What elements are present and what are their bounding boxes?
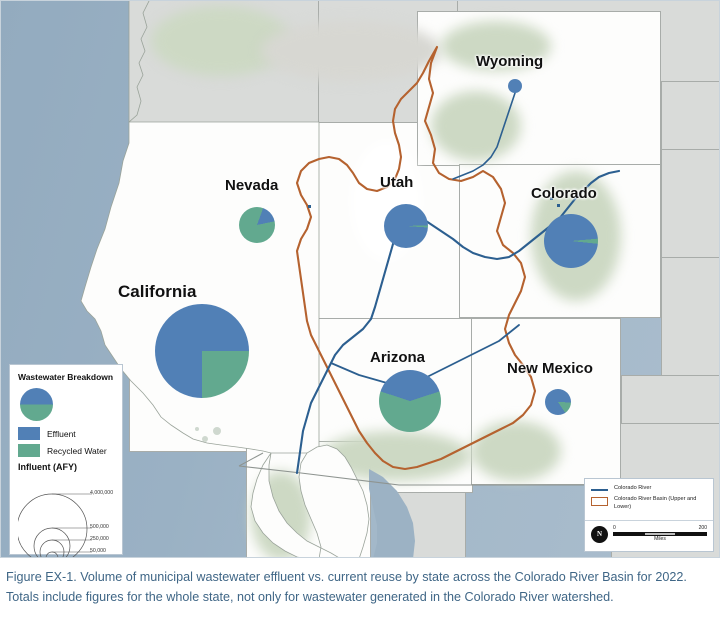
size-circle-4000000	[18, 494, 87, 558]
pie-new-mexico[interactable]	[545, 389, 571, 415]
colorado-river-label: Colorado River	[614, 485, 651, 492]
scale-min-label: 0	[613, 526, 616, 531]
effluent-color-swatch	[18, 427, 40, 440]
recycled-water-color-swatch	[18, 444, 40, 457]
river-line-icon	[591, 489, 608, 491]
terrain-blotch	[431, 91, 521, 161]
pie-wyoming[interactable]	[508, 79, 522, 93]
figure-caption: Figure EX-1. Volume of municipal wastewa…	[0, 564, 720, 607]
colorado-river-basin-label: Colorado River Basin (Upper and Lower)	[614, 496, 707, 511]
legend-wastewater-breakdown: Wastewater Breakdown Effluent Recycled W…	[9, 364, 123, 555]
state-oklahoma	[621, 375, 720, 425]
terrain-blotch	[321, 431, 471, 481]
scale-unit-label: Miles	[613, 537, 707, 542]
legend-row-recycled: Recycled Water	[18, 444, 114, 457]
terrain-blotch	[251, 471, 311, 558]
terrain-blotch	[261, 21, 441, 81]
map-canvas[interactable]: California Nevada Utah Colorado Wyoming …	[0, 0, 720, 558]
pie-nevada[interactable]	[239, 207, 275, 243]
legend-pie-swatch-icon	[20, 388, 53, 421]
legend-row-effluent: Effluent	[18, 427, 114, 440]
legend-title: Wastewater Breakdown	[18, 372, 114, 382]
state-north-dakota	[661, 81, 720, 151]
scale-max-label: 200	[699, 526, 707, 531]
legend-row-colorado-river: Colorado River	[591, 485, 707, 492]
figure-container: California Nevada Utah Colorado Wyoming …	[0, 0, 720, 639]
size-circle-500000	[34, 528, 70, 558]
pie-colorado[interactable]	[544, 214, 598, 268]
terrain-blotch	[471, 421, 561, 481]
size-label-250000: 250,000	[90, 536, 109, 542]
size-label-4000000: 4,000,000	[90, 490, 113, 496]
state-sonora-mexico	[386, 486, 466, 558]
legend-river-and-scale: Colorado River Colorado River Basin (Upp…	[584, 478, 714, 552]
recycled-water-label: Recycled Water	[47, 446, 107, 456]
size-legend-title: Influent (AFY)	[18, 462, 114, 472]
size-circle-50000	[46, 552, 58, 558]
map-label-arizona: Arizona	[370, 349, 425, 366]
scale-bar: 0 200 Miles	[613, 526, 707, 542]
legend-row-basin: Colorado River Basin (Upper and Lower)	[591, 496, 707, 511]
map-label-utah: Utah	[380, 174, 413, 191]
size-legend-nested-circles: 4,000,000 500,000 250,000 50,000	[18, 474, 118, 558]
scale-and-compass: N 0 200 Miles	[585, 521, 713, 548]
legend-river-entries: Colorado River Colorado River Basin (Upp…	[585, 479, 713, 521]
map-label-california: California	[118, 282, 196, 302]
pie-california[interactable]	[155, 304, 249, 398]
size-label-500000: 500,000	[90, 524, 109, 530]
size-circle-250000	[40, 540, 64, 558]
size-label-50000: 50,000	[90, 548, 106, 554]
map-label-colorado: Colorado	[531, 185, 597, 202]
map-label-new-mexico: New Mexico	[507, 360, 593, 377]
pie-utah[interactable]	[384, 204, 428, 248]
state-nebraska	[661, 149, 720, 259]
map-label-nevada: Nevada	[225, 177, 278, 194]
basin-outline-icon	[591, 497, 608, 506]
effluent-label: Effluent	[47, 429, 76, 439]
north-arrow-icon: N	[591, 526, 608, 543]
map-label-wyoming: Wyoming	[476, 53, 543, 70]
state-kansas	[661, 257, 720, 377]
pie-arizona[interactable]	[379, 370, 441, 432]
